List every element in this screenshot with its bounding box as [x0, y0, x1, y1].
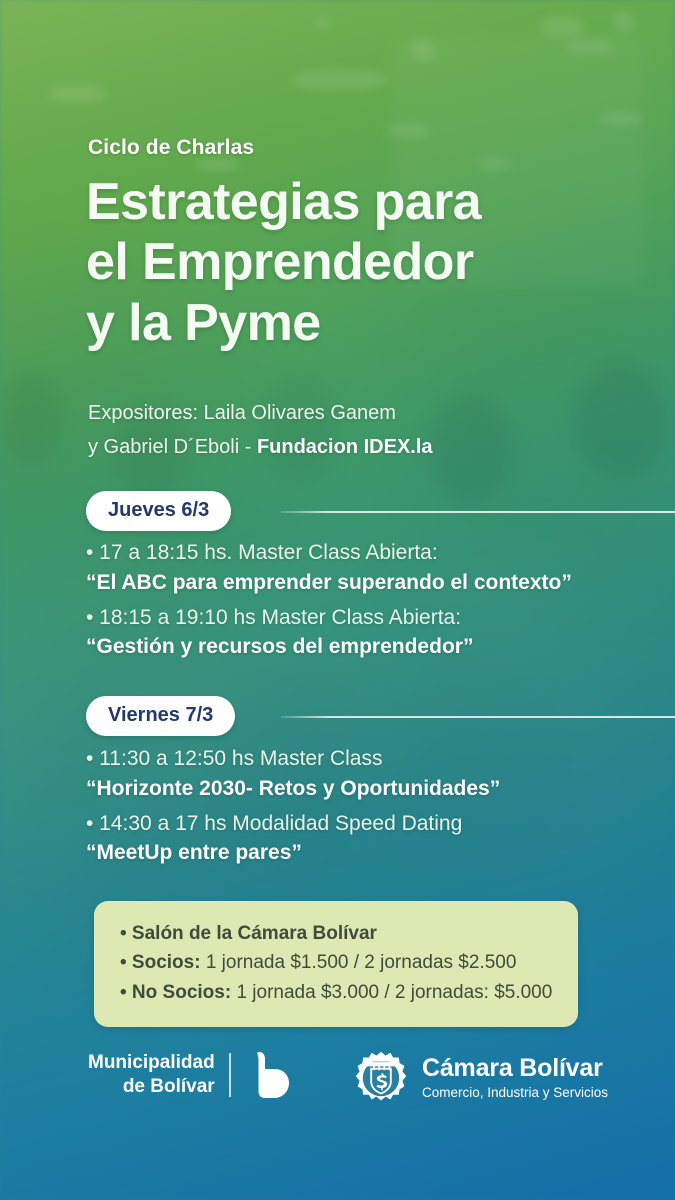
camara-bolivar-logo: Cámara Bolívar Comercio, Industria y Ser… [353, 1050, 608, 1106]
municipality-logo-text: Municipalidad de Bolívar [88, 1051, 215, 1099]
municipality-logo: Municipalidad de Bolívar [88, 1050, 291, 1100]
sessions-thursday: • 17 a 18:15 hs. Master Class Abierta: “… [86, 538, 626, 667]
speakers-line-2: y Gabriel D´Eboli - Fundacion IDEX.la [88, 430, 608, 464]
headline-line-3: y la Pyme [86, 293, 606, 353]
headline-line-2: el Emprendedor [86, 232, 606, 292]
page-title: Estrategias para el Emprendedor y la Pym… [86, 172, 606, 353]
footer-logos: Municipalidad de Bolívar [0, 1038, 675, 1118]
thumbs-up-icon [245, 1050, 291, 1100]
no-socios-row: • No Socios: 1 jornada $3.000 / 2 jornad… [120, 978, 552, 1007]
session-time: • 17 a 18:15 hs. Master Class Abierta: [86, 538, 626, 568]
date-pill-friday: Viernes 7/3 [86, 696, 235, 736]
municipality-line-2: de Bolívar [88, 1075, 215, 1099]
socios-label: • Socios: [120, 952, 201, 973]
headline-line-1: Estrategias para [86, 172, 606, 232]
session-title: “Gestión y recursos del emprendedor” [86, 632, 626, 662]
camara-logo-text: Cámara Bolívar Comercio, Industria y Ser… [422, 1055, 608, 1101]
session-title: “El ABC para emprender superando el cont… [86, 568, 626, 598]
poster-content: Ciclo de Charlas Estrategias para el Emp… [0, 0, 675, 1200]
socios-row: • Socios: 1 jornada $1.500 / 2 jornadas … [120, 948, 552, 977]
no-socios-label: • No Socios: [120, 982, 231, 1003]
event-poster: Ciclo de Charlas Estrategias para el Emp… [0, 0, 675, 1200]
venue-pricing-card: • Salón de la Cámara Bolívar • Socios: 1… [94, 901, 578, 1027]
session-title: “Horizonte 2030- Retos y Oportunidades” [86, 774, 626, 804]
speakers-prefix: y Gabriel D´Eboli - [88, 436, 257, 458]
socios-value: 1 jornada $1.500 / 2 jornadas $2.500 [201, 952, 517, 973]
session-time: • 18:15 a 19:10 hs Master Class Abierta: [86, 603, 626, 633]
speakers-line-1: Expositores: Laila Olivares Ganem [88, 396, 608, 430]
camara-title: Cámara Bolívar [422, 1055, 608, 1083]
camara-subtitle: Comercio, Industria y Servicios [422, 1085, 608, 1101]
date-pill-thursday: Jueves 6/3 [86, 491, 231, 531]
venue-text: • Salón de la Cámara Bolívar [120, 923, 377, 944]
session-time: • 11:30 a 12:50 hs Master Class [86, 744, 626, 774]
speakers-organization: Fundacion IDEX.la [257, 436, 433, 458]
gear-shield-icon [353, 1050, 409, 1106]
day-header-friday: Viernes 7/3 [86, 696, 235, 736]
divider-rule-thursday [281, 511, 675, 513]
session-title: “MeetUp entre pares” [86, 838, 626, 868]
session-time: • 14:30 a 17 hs Modalidad Speed Dating [86, 809, 626, 839]
no-socios-value: 1 jornada $3.000 / 2 jornadas: $5.000 [231, 982, 552, 1003]
speakers-block: Expositores: Laila Olivares Ganem y Gabr… [88, 396, 608, 465]
divider-rule-friday [281, 716, 675, 718]
municipality-line-1: Municipalidad [88, 1051, 215, 1075]
day-header-thursday: Jueves 6/3 [86, 491, 231, 531]
venue-row: • Salón de la Cámara Bolívar [120, 919, 552, 948]
sessions-friday: • 11:30 a 12:50 hs Master Class “Horizon… [86, 744, 626, 873]
kicker-label: Ciclo de Charlas [88, 136, 254, 160]
logo-divider [229, 1053, 231, 1097]
